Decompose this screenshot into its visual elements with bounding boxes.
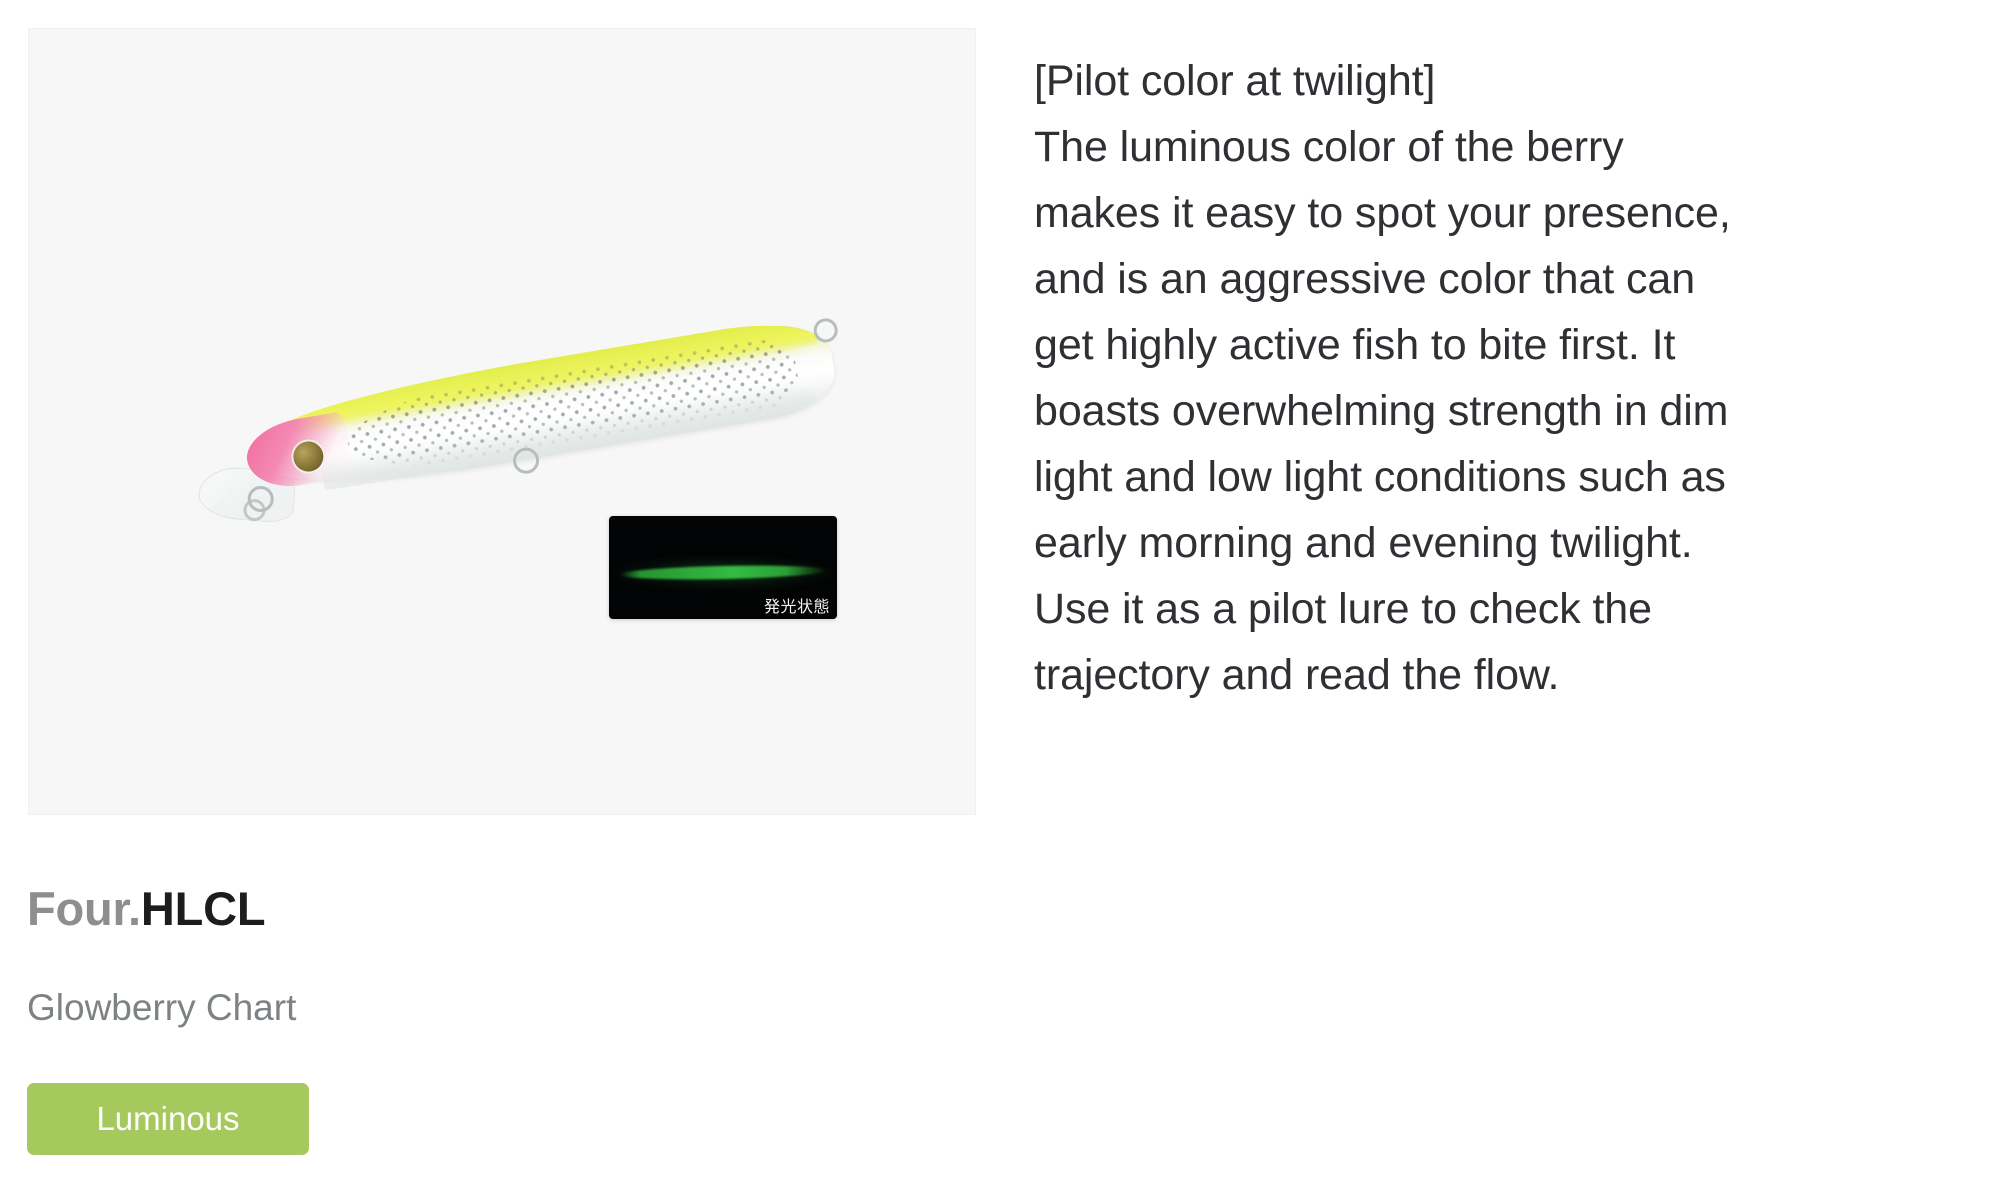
description-line: makes it easy to spot your presence, xyxy=(1034,180,1974,246)
product-title-code: HLCL xyxy=(141,882,266,935)
product-title: Four.HLCL xyxy=(27,884,265,933)
product-detail-page: 発光状態 Four.HLCL Glowberry Chart Luminous … xyxy=(0,0,2000,1198)
product-description: [Pilot color at twilight] The luminous c… xyxy=(1034,48,1974,708)
description-line: boasts overwhelming strength in dim xyxy=(1034,378,1974,444)
product-title-prefix: Four. xyxy=(27,882,141,935)
description-line: [Pilot color at twilight] xyxy=(1034,48,1974,114)
description-line: early morning and evening twilight. xyxy=(1034,510,1974,576)
product-subtitle: Glowberry Chart xyxy=(27,988,296,1029)
lure-photo: 発光状態 xyxy=(29,29,976,815)
description-line: The luminous color of the berry xyxy=(1034,114,1974,180)
glow-state-inset-photo: 発光状態 xyxy=(609,516,837,619)
description-line: light and low light conditions such as xyxy=(1034,444,1974,510)
description-line: and is an aggressive color that can xyxy=(1034,246,1974,312)
description-line: Use it as a pilot lure to check the xyxy=(1034,576,1974,642)
product-image-frame[interactable]: 発光状態 xyxy=(28,28,976,815)
description-line: get highly active fish to bite first. It xyxy=(1034,312,1974,378)
glow-inset-caption: 発光状態 xyxy=(764,599,830,615)
description-line: trajectory and read the flow. xyxy=(1034,642,1974,708)
status-badge-luminous[interactable]: Luminous xyxy=(27,1083,309,1155)
